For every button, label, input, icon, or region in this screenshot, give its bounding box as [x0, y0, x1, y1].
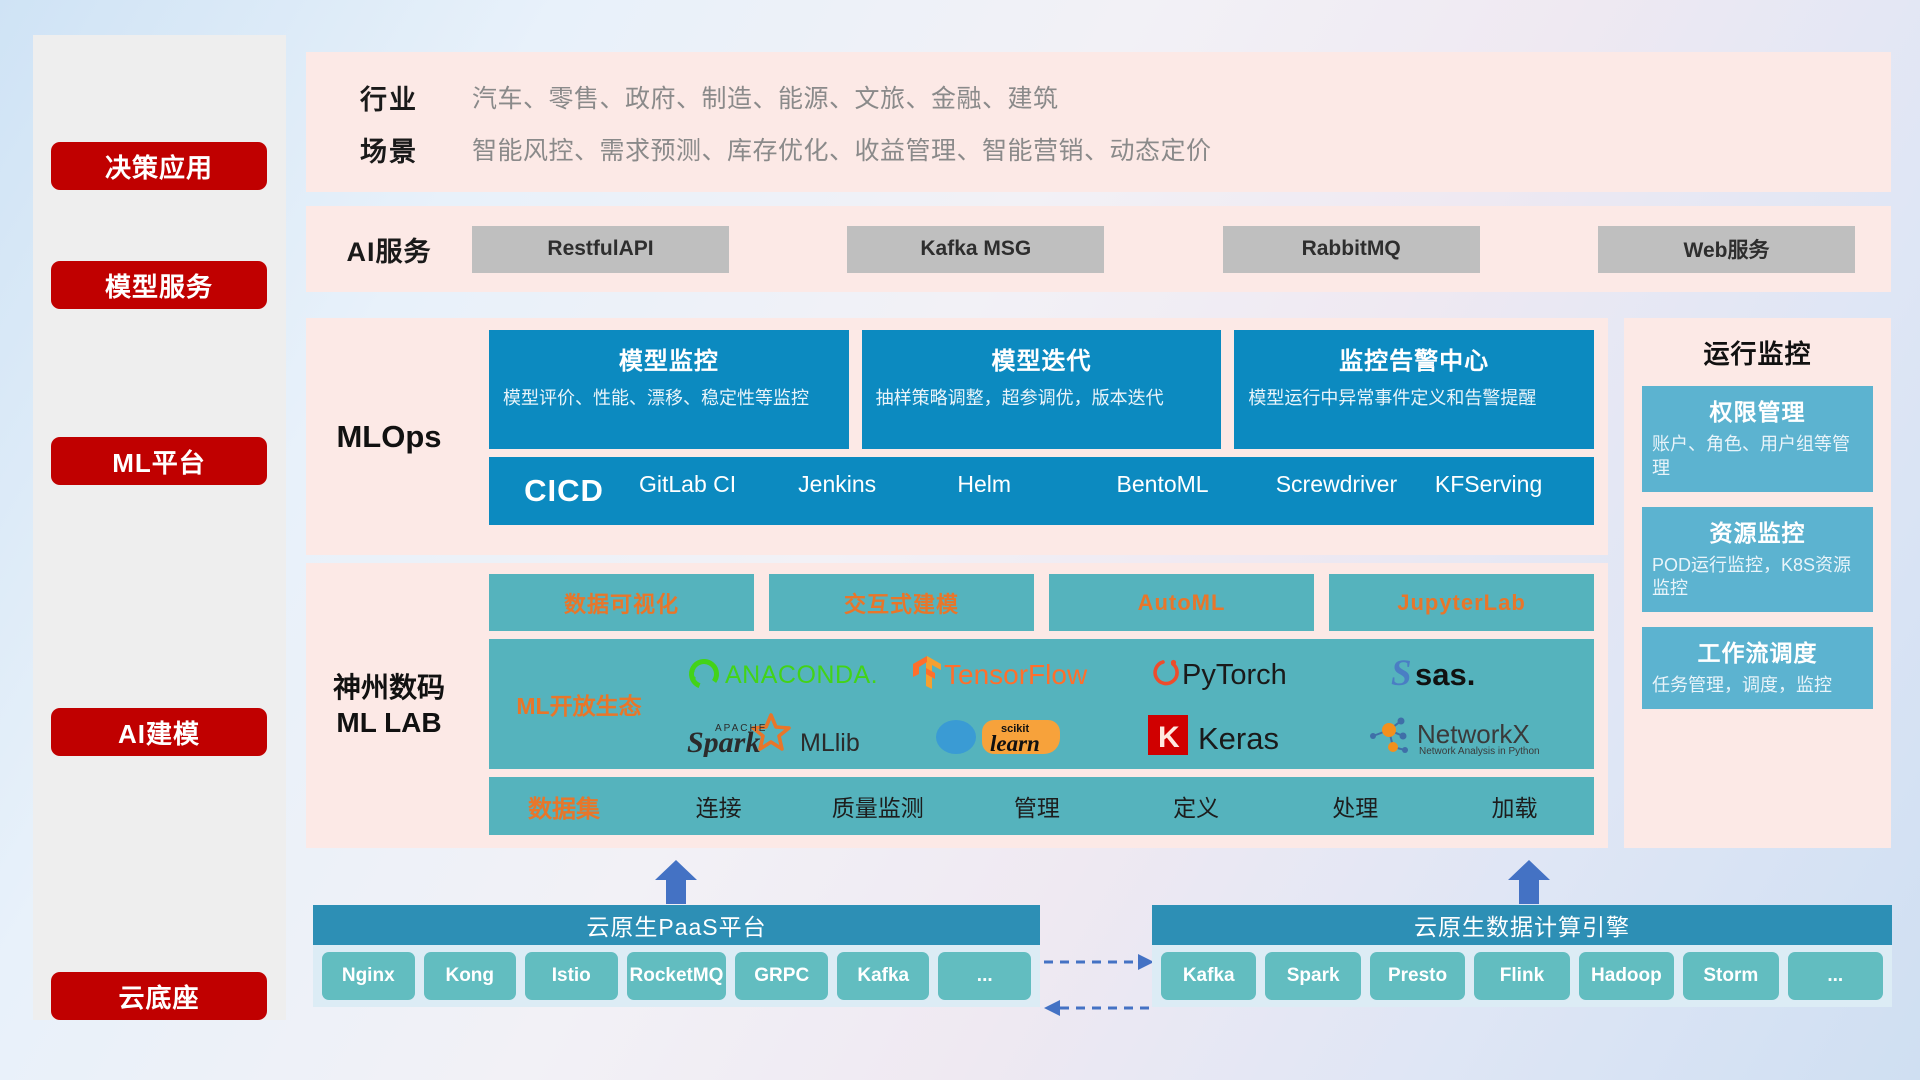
cicd-tool-screwdriver[interactable]: Screwdriver	[1276, 471, 1435, 498]
ai-service-chip-restfulapi[interactable]: RestfulAPI	[472, 226, 729, 273]
runtime-monitoring-panel: 运行监控 权限管理 账户、角色、用户组等管理 资源监控 POD运行监控，K8S资…	[1624, 318, 1891, 848]
card-title: 模型迭代	[876, 341, 1208, 376]
ai-service-chip-kafka-msg[interactable]: Kafka MSG	[847, 226, 1104, 273]
card-description: 模型运行中异常事件定义和告警提醒	[1248, 386, 1580, 410]
dataset-steps: 连接 质量监测 管理 定义 处理 加载	[639, 789, 1594, 823]
data-engine-chip-flink[interactable]: Flink	[1474, 952, 1569, 1000]
ai-service-band: AI服务 RestfulAPI Kafka MSG RabbitMQ Web服务	[306, 206, 1891, 292]
stage-rail: 决策应用 模型服务 ML平台 AI建模 云底座	[33, 35, 286, 1020]
decision-applications-band: 行业 汽车、零售、政府、制造、能源、文旅、金融、建筑 场景 智能风控、需求预测、…	[306, 52, 1891, 192]
card-description: POD运行监控，K8S资源监控	[1652, 554, 1863, 602]
chip-label: Web服务	[1684, 234, 1770, 264]
dataset-label: 数据集	[489, 789, 639, 824]
spark-wordmark: Spark	[687, 726, 760, 757]
cicd-title: CICD	[489, 473, 639, 509]
keras-logo: K Keras	[1125, 704, 1353, 765]
svg-text:K: K	[1158, 721, 1180, 754]
industry-label: 行业	[306, 78, 472, 117]
data-engine-chip-hadoop[interactable]: Hadoop	[1579, 952, 1674, 1000]
scenario-value: 智能风控、需求预测、库存优化、收益管理、智能营销、动态定价	[472, 131, 1212, 167]
cicd-tool-bentoml[interactable]: BentoML	[1117, 471, 1276, 498]
dataset-step-loading[interactable]: 加载	[1435, 789, 1594, 823]
data-engine-chip-list: Kafka Spark Presto Flink Hadoop Storm ..…	[1152, 945, 1892, 1007]
data-engine-chip-presto[interactable]: Presto	[1370, 952, 1465, 1000]
data-engine-chip-spark[interactable]: Spark	[1265, 952, 1360, 1000]
card-description: 账户、角色、用户组等管理	[1652, 433, 1863, 481]
card-title: 工作流调度	[1652, 634, 1863, 668]
chip-label: RabbitMQ	[1302, 237, 1401, 261]
data-engine-chip-kafka[interactable]: Kafka	[1161, 952, 1256, 1000]
ecosystem-logos: ANACONDA. TensorFlow	[669, 639, 1594, 769]
dataset-step-processing[interactable]: 处理	[1276, 789, 1435, 823]
svg-text:S: S	[1391, 654, 1412, 694]
stage-chip-label: AI建模	[118, 714, 200, 751]
cloud-native-paas-platform: 云原生PaaS平台 Nginx Kong Istio RocketMQ GRPC…	[313, 905, 1040, 1035]
industry-value: 汽车、零售、政府、制造、能源、文旅、金融、建筑	[472, 79, 1059, 115]
paas-chip-istio[interactable]: Istio	[525, 952, 618, 1000]
pytorch-logo: PyTorch	[1125, 643, 1353, 704]
bidirectional-link-arrows-icon	[1040, 948, 1158, 1022]
card-description: 抽样策略调整，超参调优，版本迭代	[876, 386, 1208, 410]
scenario-label: 场景	[306, 130, 472, 169]
lab-tool-automl[interactable]: AutoML	[1049, 574, 1314, 631]
stage-chip-cloud-foundation[interactable]: 云底座	[51, 972, 267, 1020]
mlops-card-model-iteration[interactable]: 模型迭代 抽样策略调整，超参调优，版本迭代	[862, 330, 1222, 449]
monitor-card-workflow-scheduling[interactable]: 工作流调度 任务管理，调度，监控	[1642, 627, 1873, 709]
paas-chip-kafka[interactable]: Kafka	[837, 952, 930, 1000]
mlops-card-model-monitoring[interactable]: 模型监控 模型评价、性能、漂移、稳定性等监控	[489, 330, 849, 449]
lab-tool-data-visualization[interactable]: 数据可视化	[489, 574, 754, 631]
data-engine-chip-more[interactable]: ...	[1788, 952, 1883, 1000]
application-row: 场景 智能风控、需求预测、库存优化、收益管理、智能营销、动态定价	[306, 124, 1891, 174]
stage-chip-label: 云底座	[118, 978, 199, 1015]
mlops-band: MLOps 模型监控 模型评价、性能、漂移、稳定性等监控 模型迭代 抽样策略调整…	[306, 318, 1608, 555]
card-description: 任务管理，调度，监控	[1652, 674, 1863, 698]
cicd-tool-jenkins[interactable]: Jenkins	[798, 471, 957, 498]
lab-tool-interactive-modeling[interactable]: 交互式建模	[769, 574, 1034, 631]
cloud-native-data-compute-engine: 云原生数据计算引擎 Kafka Spark Presto Flink Hadoo…	[1152, 905, 1892, 1035]
architecture-diagram: 决策应用 模型服务 ML平台 AI建模 云底座 行业 汽车、零售、政府、制造、能…	[0, 0, 1920, 1080]
sas-wordmark: sas.	[1415, 657, 1475, 692]
up-arrow-icon-data-engine	[1506, 858, 1552, 904]
data-engine-chip-storm[interactable]: Storm	[1683, 952, 1778, 1000]
ai-service-chip-rabbitmq[interactable]: RabbitMQ	[1223, 226, 1480, 273]
mlops-cards: 模型监控 模型评价、性能、漂移、稳定性等监控 模型迭代 抽样策略调整，超参调优，…	[489, 330, 1594, 449]
card-title: 监控告警中心	[1248, 341, 1580, 376]
chip-label: RestfulAPI	[547, 237, 653, 261]
dataset-step-quality-monitoring[interactable]: 质量监测	[798, 789, 957, 823]
keras-wordmark: Keras	[1198, 721, 1279, 756]
ml-lab-tools: 数据可视化 交互式建模 AutoML JupyterLab	[489, 574, 1594, 631]
paas-chip-list: Nginx Kong Istio RocketMQ GRPC Kafka ...	[313, 945, 1040, 1007]
ecosystem-label: ML开放生态	[489, 687, 669, 721]
dataset-row: 数据集 连接 质量监测 管理 定义 处理 加载	[489, 777, 1594, 835]
ai-service-label: AI服务	[306, 230, 472, 269]
paas-chip-kong[interactable]: Kong	[424, 952, 517, 1000]
runtime-monitoring-title: 运行监控	[1624, 334, 1891, 371]
dataset-step-definition[interactable]: 定义	[1117, 789, 1276, 823]
paas-chip-grpc[interactable]: GRPC	[735, 952, 828, 1000]
anaconda-logo: ANACONDA.	[669, 643, 897, 704]
networkx-logo: NetworkX Network Analysis in Python	[1352, 704, 1580, 765]
card-title: 模型监控	[503, 341, 835, 376]
lab-tool-jupyterlab[interactable]: JupyterLab	[1329, 574, 1594, 631]
sas-logo: S sas.	[1352, 643, 1580, 704]
anaconda-wordmark: ANACONDA.	[725, 661, 878, 689]
spark-mllib-logo: APACHE Spark MLlib	[669, 704, 897, 765]
ai-service-chip-web-service[interactable]: Web服务	[1598, 226, 1855, 273]
cicd-tool-gitlab-ci[interactable]: GitLab CI	[639, 471, 798, 498]
tensorflow-logo: TensorFlow	[897, 643, 1125, 704]
paas-title: 云原生PaaS平台	[313, 905, 1040, 945]
dataset-step-management[interactable]: 管理	[957, 789, 1116, 823]
pytorch-wordmark: PyTorch	[1182, 659, 1287, 691]
monitor-card-resource-monitoring[interactable]: 资源监控 POD运行监控，K8S资源监控	[1642, 507, 1873, 613]
mlops-card-alert-center[interactable]: 监控告警中心 模型运行中异常事件定义和告警提醒	[1234, 330, 1594, 449]
up-arrow-icon-paas	[653, 858, 699, 904]
chip-label: Kafka MSG	[920, 237, 1031, 261]
stage-chip-label: 模型服务	[105, 267, 213, 304]
ml-lab-label-line2: ML LAB	[336, 706, 441, 740]
ml-lab-label-line1: 神州数码	[333, 671, 445, 705]
stage-chip-decision-apps[interactable]: 决策应用	[51, 142, 267, 190]
dataset-step-connect[interactable]: 连接	[639, 789, 798, 823]
mllib-wordmark: MLlib	[800, 729, 860, 757]
stage-chip-label: 决策应用	[105, 148, 213, 185]
networkx-wordmark: NetworkX	[1417, 719, 1530, 749]
stage-chip-ml-platform[interactable]: ML平台	[51, 437, 267, 485]
paas-chip-rocketmq[interactable]: RocketMQ	[627, 952, 727, 1000]
stage-chip-ai-modeling[interactable]: AI建模	[51, 708, 267, 756]
cicd-tool-helm[interactable]: Helm	[957, 471, 1116, 498]
stage-chip-model-service[interactable]: 模型服务	[51, 261, 267, 309]
paas-chip-nginx[interactable]: Nginx	[322, 952, 415, 1000]
ml-lab-label: 神州数码 ML LAB	[306, 563, 472, 848]
mlops-label: MLOps	[306, 318, 472, 555]
ml-lab-band: 神州数码 ML LAB 数据可视化 交互式建模 AutoML JupyterLa…	[306, 563, 1608, 848]
ai-service-items: RestfulAPI Kafka MSG RabbitMQ Web服务	[472, 226, 1891, 273]
monitor-card-permission-management[interactable]: 权限管理 账户、角色、用户组等管理	[1642, 386, 1873, 492]
stage-chip-label: ML平台	[112, 443, 206, 480]
cicd-tool-list: GitLab CI Jenkins Helm BentoML Screwdriv…	[639, 457, 1594, 525]
cicd-bar: CICD GitLab CI Jenkins Helm BentoML Scre…	[489, 457, 1594, 525]
ml-open-ecosystem: ML开放生态 ANACONDA.	[489, 639, 1594, 769]
paas-chip-more[interactable]: ...	[938, 952, 1031, 1000]
card-description: 模型评价、性能、漂移、稳定性等监控	[503, 386, 835, 410]
card-title: 资源监控	[1652, 514, 1863, 548]
card-title: 权限管理	[1652, 393, 1863, 427]
networkx-tagline: Network Analysis in Python	[1419, 746, 1540, 757]
scikit-learn-logo: scikit learn	[897, 704, 1125, 765]
data-engine-title: 云原生数据计算引擎	[1152, 905, 1892, 945]
learn-wordmark: learn	[990, 731, 1040, 756]
tensorflow-wordmark: TensorFlow	[944, 659, 1088, 690]
application-row: 行业 汽车、零售、政府、制造、能源、文旅、金融、建筑	[306, 72, 1891, 122]
cicd-tool-kfserving[interactable]: KFServing	[1435, 471, 1594, 498]
